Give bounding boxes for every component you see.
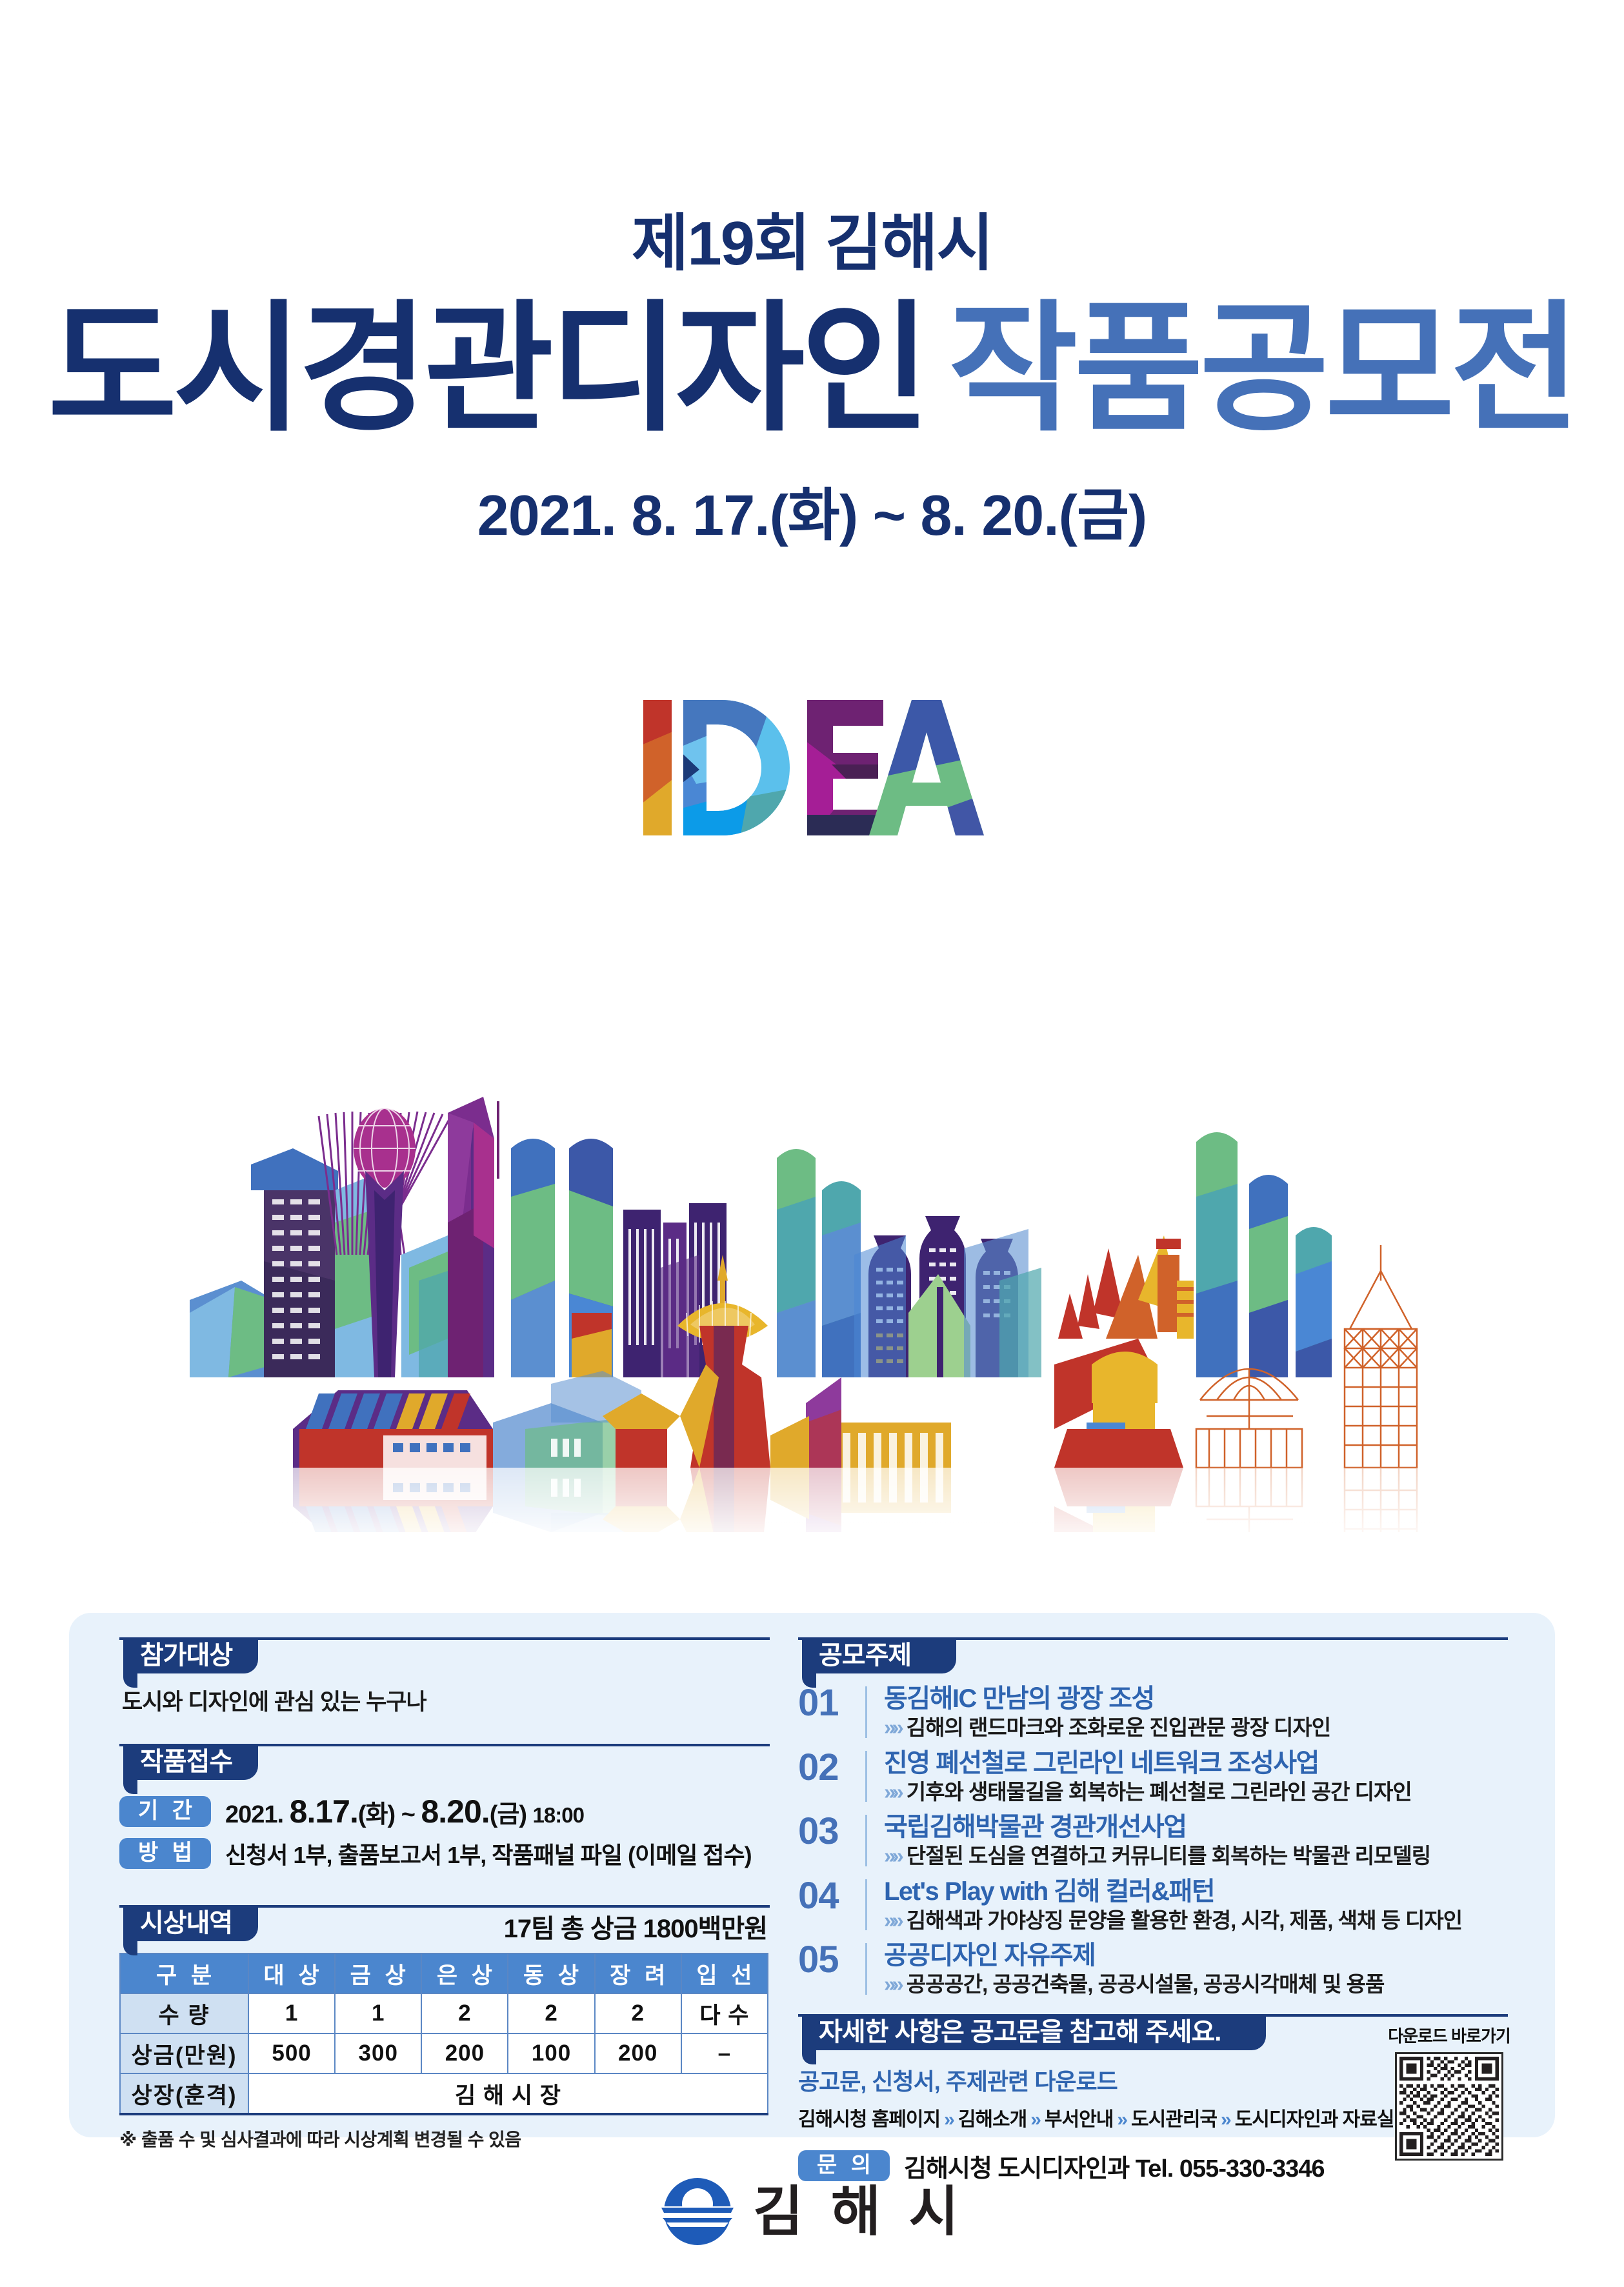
theme-subtitle: 김해의 랜드마크와 조화로운 진입관문 광장 디자인 bbox=[907, 1715, 1330, 1739]
double-chevron-icon: »» bbox=[884, 1780, 900, 1804]
theme-subtitle: 기후와 생태물길을 회복하는 폐선철로 그린라인 공간 디자인 bbox=[907, 1780, 1412, 1804]
theme-divider bbox=[865, 1751, 867, 1803]
poster-canvas: 제19회 김해시 도시경관디자인작품공모전 2021. 8. 17.(화) ~ … bbox=[0, 0, 1624, 2287]
theme-divider bbox=[865, 1879, 867, 1931]
section-label-contact: 자세한 사항은 공고문을 참고해 주세요. bbox=[802, 2014, 1266, 2050]
col-header: 대 상 bbox=[248, 1953, 335, 1993]
section-label-awards: 시상내역 bbox=[123, 1905, 258, 1941]
qr-code-icon bbox=[1399, 2057, 1499, 2156]
footer-city-name: 김 해 시 bbox=[753, 2184, 965, 2239]
theme-subtitle: 김해색과 가야상징 문양을 활용한 환경, 시각, 제품, 색채 등 디자인 bbox=[907, 1908, 1462, 1932]
period-prefix: 2021. bbox=[225, 1801, 283, 1828]
poster-header: 제19회 김해시 도시경관디자인작품공모전 2021. 8. 17.(화) ~ … bbox=[0, 0, 1624, 552]
section-header-awards: 시상내역 17팀 총 상금 1800백만원 bbox=[119, 1904, 770, 1944]
period-time: 18:00 bbox=[533, 1803, 584, 1827]
idea-letter-i bbox=[638, 687, 683, 848]
skyline-graphic bbox=[190, 977, 1435, 1571]
qr-label: 다운로드 바로가기 bbox=[1388, 2023, 1510, 2047]
kicker-text: 제19회 김해시 bbox=[0, 213, 1624, 275]
section-header-submission: 작품접수 bbox=[119, 1743, 770, 1783]
col-header: 금 상 bbox=[335, 1953, 421, 1993]
list-item: 01 동김해IC 만남의 광장 조성 »»김해의 랜드마크와 조화로운 진입관문… bbox=[798, 1684, 1508, 1741]
header-date-range: 2021. 8. 17.(화) ~ 8. 20.(금) bbox=[0, 470, 1624, 552]
theme-title: 공공디자인 자유주제 bbox=[884, 1941, 1508, 1970]
list-item: 02 진영 폐선철로 그린라인 네트워크 조성사업 »»기후와 생태물길을 회복… bbox=[798, 1748, 1508, 1805]
awards-table: 구 분 대 상 금 상 은 상 동 상 장 려 입 선 수 량 1 1 2 bbox=[119, 1953, 768, 2115]
cell: 1 bbox=[248, 1993, 335, 2033]
row-label: 상금(만원) bbox=[120, 2033, 248, 2073]
col-header: 장 려 bbox=[595, 1953, 681, 1993]
theme-number: 03 bbox=[798, 1812, 865, 1852]
row-label: 상장(훈격) bbox=[120, 2073, 248, 2114]
breadcrumb-item: 도시디자인과 자료실 bbox=[1235, 2109, 1394, 2130]
period-day-1: (화) bbox=[358, 1801, 395, 1828]
period-day-2: (금) bbox=[490, 1801, 526, 1828]
qr-code[interactable] bbox=[1395, 2052, 1503, 2161]
chevron-right-icon: » bbox=[1030, 2109, 1041, 2130]
table-row: 상금(만원) 500 300 200 100 200 – bbox=[120, 2033, 768, 2073]
theme-subtitle: 공공공간, 공공건축물, 공공시설물, 공공시각매체 및 용품 bbox=[907, 1972, 1385, 1996]
cell: 200 bbox=[595, 2033, 681, 2073]
period-date-1: 8.17. bbox=[290, 1793, 358, 1830]
theme-subtitle-row: »»김해색과 가야상징 문양을 활용한 환경, 시각, 제품, 색채 등 디자인 bbox=[884, 1908, 1508, 1933]
col-header: 입 선 bbox=[681, 1953, 768, 1993]
period-value: 2021. 8.17.(화) ~ 8.20.(금) 18:00 bbox=[225, 1793, 584, 1830]
cell: 2 bbox=[508, 1993, 594, 2033]
theme-subtitle-row: »»공공공간, 공공건축물, 공공시설물, 공공시각매체 및 용품 bbox=[884, 1972, 1508, 1997]
period-date-2: 8.20. bbox=[421, 1793, 489, 1830]
theme-subtitle-row: »»기후와 생태물길을 회복하는 폐선철로 그린라인 공간 디자인 bbox=[884, 1779, 1508, 1805]
page-title: 도시경관디자인작품공모전 bbox=[0, 299, 1624, 440]
theme-divider bbox=[865, 1815, 867, 1866]
table-header-row: 구 분 대 상 금 상 은 상 동 상 장 려 입 선 bbox=[120, 1953, 768, 1993]
section-flag-tail bbox=[802, 2050, 816, 2064]
method-value: 신청서 1부, 출품보고서 1부, 작품패널 파일 (이메일 접수) bbox=[225, 1837, 752, 1870]
col-header: 동 상 bbox=[508, 1953, 594, 1993]
table-row: 상장(훈격) 김 해 시 장 bbox=[120, 2073, 768, 2114]
theme-title: 진영 폐선철로 그린라인 네트워크 조성사업 bbox=[884, 1748, 1508, 1778]
section-flag-tail bbox=[123, 1780, 137, 1794]
cell: 200 bbox=[421, 2033, 508, 2073]
double-chevron-icon: »» bbox=[884, 1844, 900, 1868]
qr-section[interactable]: 다운로드 바로가기 bbox=[1388, 2023, 1510, 2161]
idea-wordmark bbox=[0, 687, 1624, 848]
theme-number: 05 bbox=[798, 1941, 865, 1980]
gimhae-city-logo-icon bbox=[659, 2173, 736, 2250]
awards-total: 17팀 총 상금 1800백만원 bbox=[504, 1908, 767, 1945]
cell: 1 bbox=[335, 1993, 421, 2033]
row-label: 수 량 bbox=[120, 1993, 248, 2033]
title-part-2: 작품공모전 bbox=[948, 291, 1576, 448]
cell: 2 bbox=[421, 1993, 508, 2033]
col-header: 구 분 bbox=[120, 1953, 248, 1993]
double-chevron-icon: »» bbox=[884, 1715, 900, 1739]
breadcrumb-item: 도시관리국 bbox=[1131, 2109, 1217, 2130]
idea-logo-icon bbox=[638, 687, 987, 848]
cell: 2 bbox=[595, 1993, 681, 2033]
section-header-audience: 참가대상 bbox=[119, 1636, 770, 1676]
theme-title: 국립김해박물관 경관개선사업 bbox=[884, 1812, 1508, 1842]
theme-divider bbox=[865, 1686, 867, 1738]
list-item: 04 Let's Play with 김해 컬러&패턴 »»김해색과 가야상징 … bbox=[798, 1877, 1508, 1933]
method-label: 방 법 bbox=[119, 1838, 211, 1869]
breadcrumb-item: 김해소개 bbox=[958, 2109, 1027, 2130]
submission-period-row: 기 간 2021. 8.17.(화) ~ 8.20.(금) 18:00 bbox=[119, 1793, 770, 1830]
theme-subtitle-row: »»김해의 랜드마크와 조화로운 진입관문 광장 디자인 bbox=[884, 1715, 1508, 1741]
breadcrumb-item: 김해시청 홈페이지 bbox=[798, 2109, 940, 2130]
awards-note: ※ 출품 수 및 심사결과에 따라 시상계획 변경될 수 있음 bbox=[119, 2126, 770, 2152]
cell: 100 bbox=[508, 2033, 594, 2073]
contact-block: 자세한 사항은 공고문을 참고해 주세요. 공고문, 신청서, 주제관련 다운로… bbox=[798, 2013, 1508, 2184]
theme-number: 02 bbox=[798, 1748, 865, 1788]
idea-letter-d bbox=[677, 687, 799, 848]
audience-text: 도시와 디자인에 관심 있는 누구나 bbox=[122, 1684, 770, 1717]
cell: 김 해 시 장 bbox=[248, 2073, 768, 2114]
theme-subtitle-row: »»단절된 도심을 연결하고 커뮤니티를 회복하는 박물관 리모델링 bbox=[884, 1843, 1508, 1869]
table-row: 수 량 1 1 2 2 2 다 수 bbox=[120, 1993, 768, 2033]
cell: – bbox=[681, 2033, 768, 2073]
list-item: 05 공공디자인 자유주제 »»공공공간, 공공건축물, 공공시설물, 공공시각… bbox=[798, 1941, 1508, 1997]
theme-title: Let's Play with 김해 컬러&패턴 bbox=[884, 1877, 1508, 1906]
chevron-right-icon: » bbox=[944, 2109, 954, 2130]
cell: 500 bbox=[248, 2033, 335, 2073]
period-tilde: ~ bbox=[401, 1801, 415, 1828]
double-chevron-icon: »» bbox=[884, 1908, 900, 1932]
info-left-column: 참가대상 도시와 디자인에 관심 있는 누구나 작품접수 기 간 2021. 8… bbox=[119, 1636, 770, 2152]
theme-title: 동김해IC 만남의 광장 조성 bbox=[884, 1684, 1508, 1713]
submission-method-row: 방 법 신청서 1부, 출품보고서 1부, 작품패널 파일 (이메일 접수) bbox=[119, 1837, 770, 1870]
col-header: 은 상 bbox=[421, 1953, 508, 1993]
list-item: 03 국립김해박물관 경관개선사업 »»단절된 도심을 연결하고 커뮤니티를 회… bbox=[798, 1812, 1508, 1869]
cityscape-illustration bbox=[0, 977, 1624, 1571]
breadcrumb-item: 부서안내 bbox=[1045, 2109, 1113, 2130]
period-label: 기 간 bbox=[119, 1796, 211, 1827]
footer: 김 해 시 bbox=[0, 2173, 1624, 2250]
double-chevron-icon: »» bbox=[884, 1972, 900, 1996]
theme-number: 04 bbox=[798, 1877, 865, 1916]
info-right-column: 공모주제 01 동김해IC 만남의 광장 조성 »»김해의 랜드마크와 조화로운… bbox=[798, 1636, 1508, 2184]
chevron-right-icon: » bbox=[1117, 2109, 1127, 2130]
theme-subtitle: 단절된 도심을 연결하고 커뮤니티를 회복하는 박물관 리모델링 bbox=[907, 1844, 1430, 1868]
section-header-themes: 공모주제 bbox=[798, 1636, 1508, 1676]
skyline-upright bbox=[190, 1097, 1417, 1468]
cell: 다 수 bbox=[681, 1993, 768, 2033]
section-label-themes: 공모주제 bbox=[802, 1637, 956, 1673]
theme-divider bbox=[865, 1943, 867, 1995]
cell: 300 bbox=[335, 2033, 421, 2073]
chevron-right-icon: » bbox=[1221, 2109, 1231, 2130]
section-label-submission: 작품접수 bbox=[123, 1744, 258, 1780]
section-label-audience: 참가대상 bbox=[123, 1637, 258, 1673]
theme-number: 01 bbox=[798, 1684, 865, 1723]
info-panel: 참가대상 도시와 디자인에 관심 있는 누구나 작품접수 기 간 2021. 8… bbox=[69, 1613, 1555, 2137]
title-part-1: 도시경관디자인 bbox=[48, 291, 927, 448]
